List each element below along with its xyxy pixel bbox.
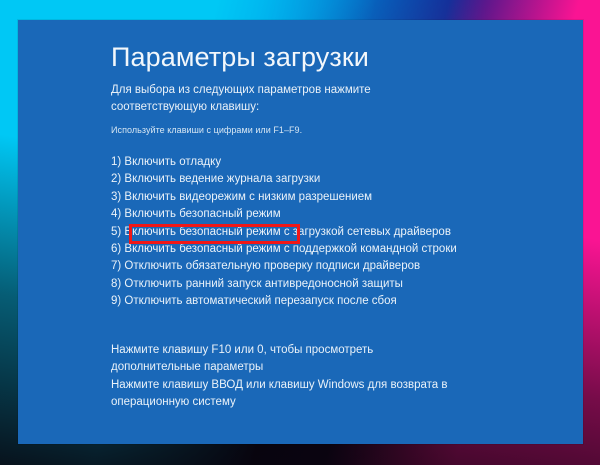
boot-options-list: 1) Включить отладку 2) Включить ведение … [111,154,531,311]
boot-options-screen: Параметры загрузки Для выбора из следующ… [18,20,583,444]
intro-text: Для выбора из следующих параметров нажми… [111,82,466,116]
boot-option-6[interactable]: 6) Включить безопасный режим с поддержко… [111,241,531,258]
boot-option-5[interactable]: 5) Включить безопасный режим с загрузкой… [111,224,531,241]
boot-option-8[interactable]: 8) Отключить ранний запуск антивредоносн… [111,276,531,293]
boot-option-4[interactable]: 4) Включить безопасный режим [111,206,531,223]
boot-option-9[interactable]: 9) Отключить автоматический перезапуск п… [111,293,531,310]
footer-line-advanced-options: Нажмите клавишу F10 или 0, чтобы просмот… [111,342,461,377]
keyboard-hint-text: Используйте клавиши с цифрами или F1–F9. [111,124,302,137]
boot-option-2[interactable]: 2) Включить ведение журнала загрузки [111,171,531,188]
page-title: Параметры загрузки [111,42,369,73]
boot-option-7[interactable]: 7) Отключить обязательную проверку подпи… [111,258,531,275]
footer-instructions: Нажмите клавишу F10 или 0, чтобы просмот… [111,342,461,412]
boot-option-1[interactable]: 1) Включить отладку [111,154,531,171]
boot-option-3[interactable]: 3) Включить видеорежим с низким разрешен… [111,189,531,206]
footer-line-return-to-os: Нажмите клавишу ВВОД или клавишу Windows… [111,377,461,412]
